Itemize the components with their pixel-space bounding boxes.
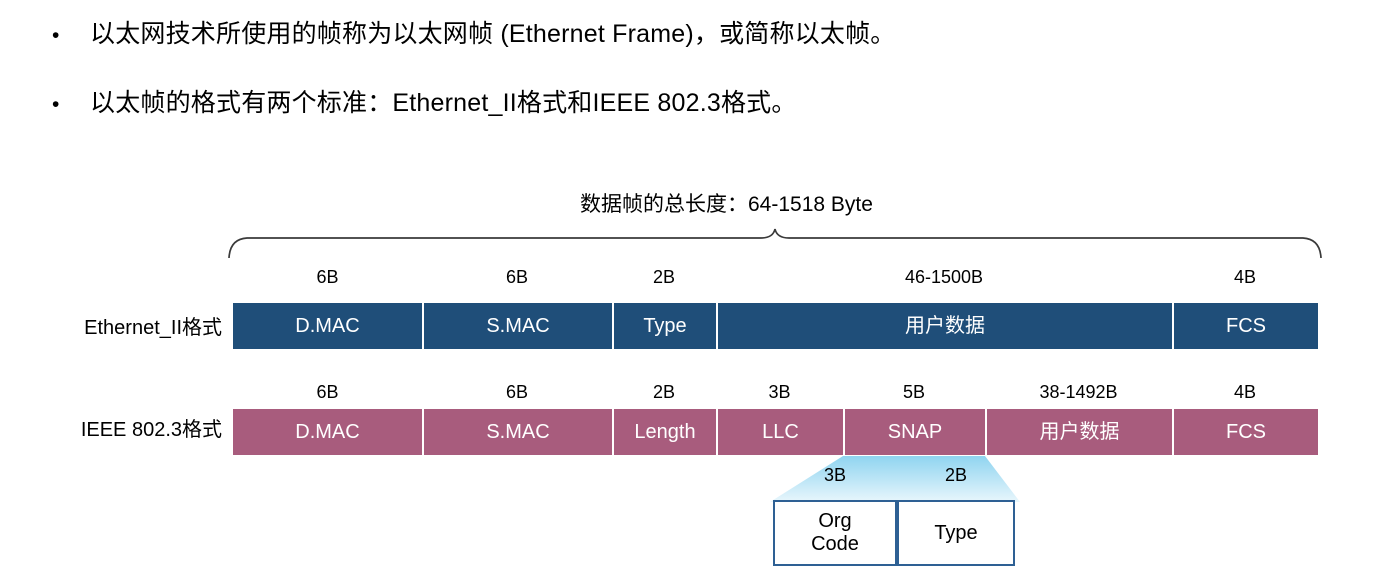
field-cell-r0-smac: S.MAC [422, 303, 612, 349]
size-label-r0-c3: 46-1500B [716, 266, 1172, 288]
snap-size-label-type: 2B [897, 464, 1015, 486]
frame-span-brace-icon [225, 228, 1325, 260]
field-cell-r1-smac: S.MAC [422, 409, 612, 455]
field-cell-r0-payload: 用户数据 [716, 303, 1172, 349]
total-frame-length-label: 数据帧的总长度：64-1518 Byte [580, 192, 873, 218]
size-label-r1-c2: 2B [612, 381, 716, 403]
size-label-r0-c2: 2B [612, 266, 716, 288]
field-cell-r0-dmac: D.MAC [233, 303, 422, 349]
size-label-r0-c4: 4B [1172, 266, 1318, 288]
row-label-ieee-8023: IEEE 802.3格式 [12, 418, 222, 442]
field-cell-r1-payload: 用户数据 [985, 409, 1172, 455]
size-label-r1-c6: 4B [1172, 381, 1318, 403]
size-label-r1-c1: 6B [422, 381, 612, 403]
size-label-r1-c5: 38-1492B [985, 381, 1172, 403]
snap-field-orgcode: Org Code [773, 500, 897, 566]
row-label-ethernet-ii: Ethernet_II格式 [12, 316, 222, 340]
snap-field-orgcode-line2: Code [811, 533, 859, 556]
field-cell-r1-dmac: D.MAC [233, 409, 422, 455]
snap-field-orgcode-line1: Org [811, 510, 859, 533]
size-label-r0-c0: 6B [233, 266, 422, 288]
size-label-r1-c4: 5B [843, 381, 985, 403]
snap-field-type: Type [897, 500, 1015, 566]
field-cell-r1-llc: LLC [716, 409, 843, 455]
field-cell-r1-fcs: FCS [1172, 409, 1318, 455]
field-cell-r1-length: Length [612, 409, 716, 455]
size-label-r0-c1: 6B [422, 266, 612, 288]
field-cell-r1-snap: SNAP [843, 409, 985, 455]
field-cell-r0-type: Type [612, 303, 716, 349]
size-label-r1-c3: 3B [716, 381, 843, 403]
size-label-r1-c0: 6B [233, 381, 422, 403]
ethernet-frame-diagram: 数据帧的总长度：64-1518 Byte Ethernet_II格式 6B 6B… [0, 0, 1382, 572]
field-cell-r0-fcs: FCS [1172, 303, 1318, 349]
snap-size-label-orgcode: 3B [773, 464, 897, 486]
